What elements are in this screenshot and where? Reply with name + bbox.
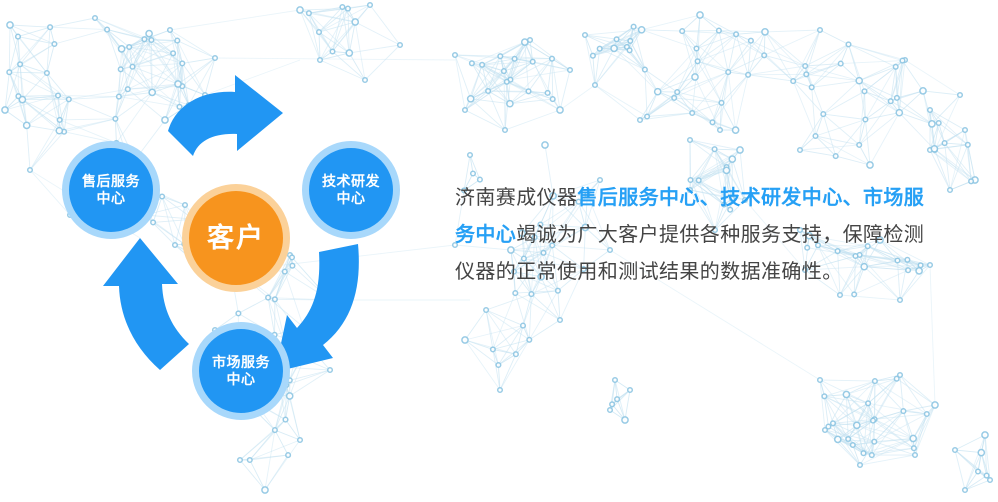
arrow-left-icon	[103, 238, 189, 370]
description-paragraph: 济南赛成仪器售后服务中心、技术研发中心、市场服务中心竭诚为广大客户提供各种服务支…	[455, 180, 925, 291]
node-aftersales-service-center[interactable]: 售后服务 中心	[62, 141, 160, 239]
node-market-label: 市场服务 中心	[212, 354, 270, 387]
node-aftersales-label: 售后服务 中心	[82, 173, 140, 206]
node-rnd-label: 技术研发 中心	[322, 173, 380, 206]
description-text: 竭诚为广大客户提供各种服务支持，保障检测仪器的正常使用和测试结果的数据准确性。	[455, 224, 924, 283]
node-customer-center[interactable]: 客户	[182, 184, 290, 292]
service-cycle-diagram: 售后服务 中心 技术研发 中心 市场服务 中心 客户	[0, 0, 460, 502]
page-root: 售后服务 中心 技术研发 中心 市场服务 中心 客户 济南赛成仪器售后服务中心、…	[0, 0, 998, 502]
arrow-right-icon	[275, 244, 359, 372]
description-text: 济南赛成仪器	[455, 187, 577, 209]
node-customer-label: 客户	[207, 225, 265, 252]
node-market-service-center[interactable]: 市场服务 中心	[192, 322, 290, 420]
node-rnd-center[interactable]: 技术研发 中心	[302, 141, 400, 239]
arrow-top-icon	[168, 75, 283, 156]
